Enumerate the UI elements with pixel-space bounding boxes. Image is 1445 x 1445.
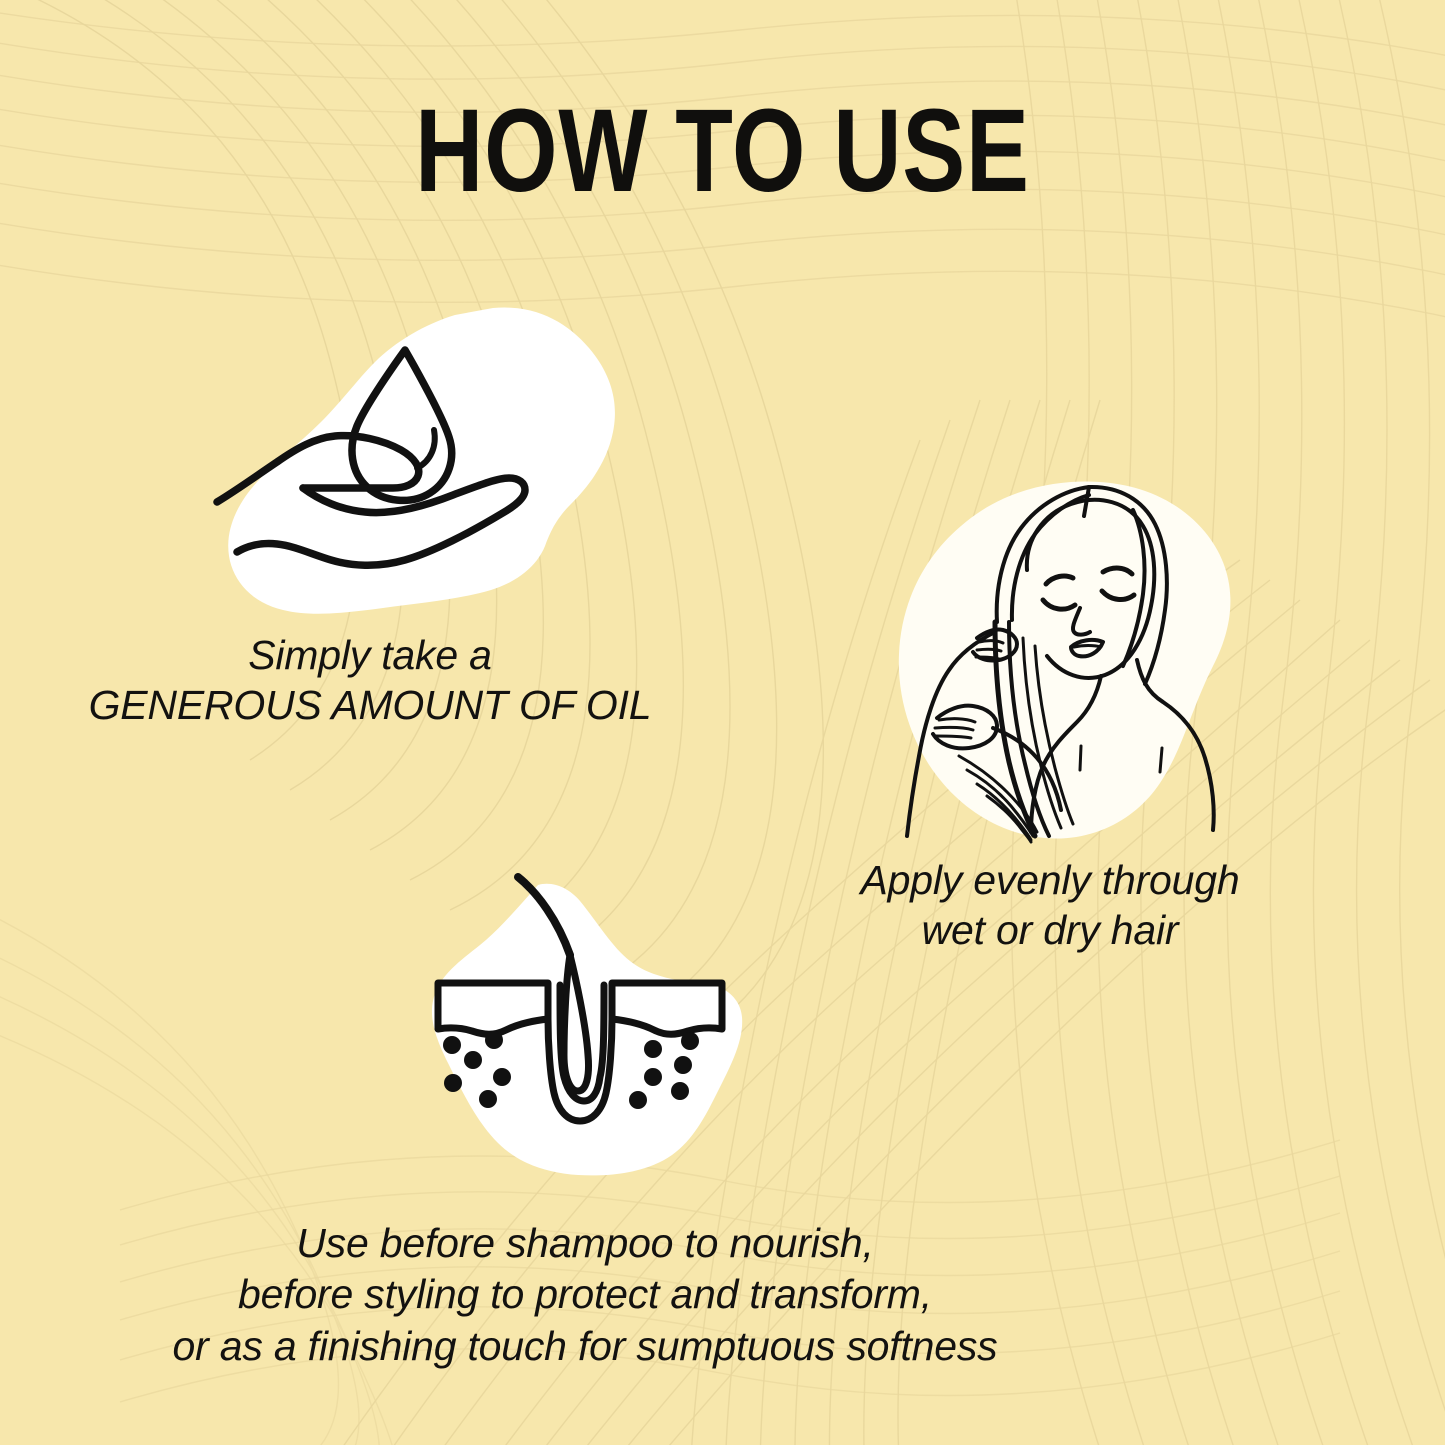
step-2-illustration bbox=[875, 470, 1305, 850]
step-1-illustration bbox=[215, 290, 645, 635]
dermis-dot bbox=[479, 1090, 497, 1108]
dermis-dot bbox=[493, 1068, 511, 1086]
infographic-canvas: HOW TO USE Simply take a GENEROUS AMOUNT… bbox=[0, 0, 1445, 1445]
dermis-dot bbox=[681, 1032, 699, 1050]
step-3-illustration bbox=[400, 875, 760, 1190]
step-3-caption: Use before shampoo to nourish, before st… bbox=[60, 1218, 1110, 1372]
white-blob-shape bbox=[899, 481, 1231, 838]
step-3-caption-line-1: Use before shampoo to nourish, bbox=[60, 1218, 1110, 1269]
step-3-caption-line-3: or as a finishing touch for sumptuous so… bbox=[60, 1321, 1110, 1372]
chest-line-right bbox=[1160, 748, 1162, 772]
mouth-inner-line bbox=[1074, 646, 1101, 648]
dermis-dot bbox=[671, 1082, 689, 1100]
dermis-dot bbox=[485, 1031, 503, 1049]
chest-line-left bbox=[1080, 746, 1081, 770]
step-2-caption-line-1: Apply evenly through bbox=[760, 855, 1340, 905]
step-1-caption-line-2: GENEROUS AMOUNT OF OIL bbox=[60, 680, 680, 730]
dermis-dot bbox=[644, 1068, 662, 1086]
step-3-caption-line-2: before styling to protect and transform, bbox=[60, 1269, 1110, 1320]
dermis-dot bbox=[444, 1074, 462, 1092]
dermis-dot bbox=[464, 1051, 482, 1069]
step-1-caption-line-1: Simply take a bbox=[60, 630, 680, 680]
page-title: HOW TO USE bbox=[145, 92, 1301, 210]
step-2-caption: Apply evenly through wet or dry hair bbox=[760, 855, 1340, 955]
step-2-caption-line-2: wet or dry hair bbox=[760, 905, 1340, 955]
dermis-dot bbox=[644, 1040, 662, 1058]
dermis-dot bbox=[443, 1036, 461, 1054]
step-1-caption: Simply take a GENEROUS AMOUNT OF OIL bbox=[60, 630, 680, 730]
white-blob-shape bbox=[228, 307, 615, 613]
dermis-dot bbox=[629, 1091, 647, 1109]
dermis-dot bbox=[674, 1056, 692, 1074]
